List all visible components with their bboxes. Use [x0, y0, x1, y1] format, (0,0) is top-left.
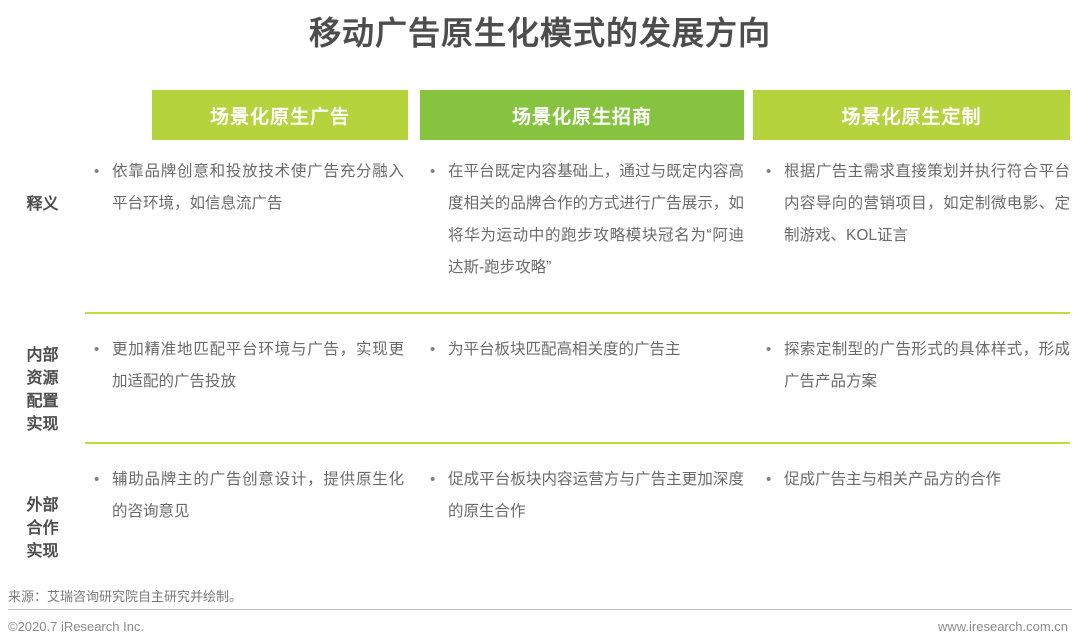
page-title: 移动广告原生化模式的发展方向 — [0, 10, 1080, 56]
column-header-band: 场景化原生广告 场景化原生招商 场景化原生定制 — [0, 90, 1080, 140]
cell-r1c1-text: 依靠品牌创意和投放技术使广告充分融入平台环境，如信息流广告 — [112, 156, 404, 220]
cell-r3c3: • 促成广告主与相关产品方的合作 — [760, 464, 1070, 496]
table-row: 内部资源配置实现 • 更加精准地匹配平台环境与广告，实现更加适配的广告投放 • … — [0, 312, 1080, 442]
column-header-1: 场景化原生广告 — [152, 90, 408, 140]
cell-r2c1: • 更加精准地匹配平台环境与广告，实现更加适配的广告投放 — [88, 334, 404, 398]
cell-r2c2-text: 为平台板块匹配高相关度的广告主 — [448, 334, 744, 366]
cell-r3c2: • 促成平台板块内容运营方与广告主更加深度的原生合作 — [424, 464, 744, 528]
bullet-icon: • — [424, 334, 448, 366]
bullet-icon: • — [760, 156, 784, 188]
cell-r2c3: • 探索定制型的广告形式的具体样式，形成广告产品方案 — [760, 334, 1070, 398]
column-header-2: 场景化原生招商 — [420, 90, 744, 140]
website-link[interactable]: www.iresearch.com.cn — [938, 617, 1068, 637]
cell-r1c1: • 依靠品牌创意和投放技术使广告充分融入平台环境，如信息流广告 — [88, 156, 404, 220]
cell-r3c2-text: 促成平台板块内容运营方与广告主更加深度的原生合作 — [448, 464, 744, 528]
bullet-icon: • — [88, 156, 112, 188]
cell-r2c1-text: 更加精准地匹配平台环境与广告，实现更加适配的广告投放 — [112, 334, 404, 398]
comparison-table: 释义 • 依靠品牌创意和投放技术使广告充分融入平台环境，如信息流广告 • 在平台… — [0, 148, 1080, 572]
row-divider — [85, 312, 1070, 314]
bullet-icon: • — [88, 334, 112, 366]
cell-r3c1-text: 辅助品牌主的广告创意设计，提供原生化的咨询意见 — [112, 464, 404, 528]
column-header-1-label: 场景化原生广告 — [210, 102, 350, 129]
table-row: 外部合作实现 • 辅助品牌主的广告创意设计，提供原生化的咨询意见 • 促成平台板… — [0, 442, 1080, 572]
column-header-3-label: 场景化原生定制 — [841, 102, 981, 129]
footer-divider — [8, 609, 1072, 610]
row-label-definition: 释义 — [0, 193, 85, 216]
cell-r1c3-text: 根据广告主需求直接策划并执行符合平台内容导向的营销项目，如定制微电影、定制游戏、… — [784, 156, 1070, 252]
cell-r2c3-text: 探索定制型的广告形式的具体样式，形成广告产品方案 — [784, 334, 1070, 398]
cell-r1c2: • 在平台既定内容基础上，通过与既定内容高度相关的品牌合作的方式进行广告展示，如… — [424, 156, 744, 284]
bullet-icon: • — [88, 464, 112, 496]
row-label-internal-resource: 内部资源配置实现 — [0, 344, 85, 436]
bullet-icon: • — [424, 464, 448, 496]
column-header-2-label: 场景化原生招商 — [512, 102, 652, 129]
table-row: 释义 • 依靠品牌创意和投放技术使广告充分融入平台环境，如信息流广告 • 在平台… — [0, 148, 1080, 312]
row-label-external-cooperation: 外部合作实现 — [0, 494, 85, 563]
column-header-3: 场景化原生定制 — [753, 90, 1070, 140]
cell-r1c3: • 根据广告主需求直接策划并执行符合平台内容导向的营销项目，如定制微电影、定制游… — [760, 156, 1070, 252]
source-note: 来源：艾瑞咨询研究院自主研究并绘制。 — [8, 588, 242, 606]
bullet-icon: • — [424, 156, 448, 188]
cell-r2c2: • 为平台板块匹配高相关度的广告主 — [424, 334, 744, 366]
bullet-icon: • — [760, 464, 784, 496]
cell-r3c3-text: 促成广告主与相关产品方的合作 — [784, 464, 1070, 496]
copyright-text: ©2020.7 iResearch Inc. — [8, 617, 144, 637]
bullet-icon: • — [760, 334, 784, 366]
row-divider — [85, 442, 1070, 444]
cell-r1c2-text: 在平台既定内容基础上，通过与既定内容高度相关的品牌合作的方式进行广告展示，如将华… — [448, 156, 744, 284]
cell-r3c1: • 辅助品牌主的广告创意设计，提供原生化的咨询意见 — [88, 464, 404, 528]
